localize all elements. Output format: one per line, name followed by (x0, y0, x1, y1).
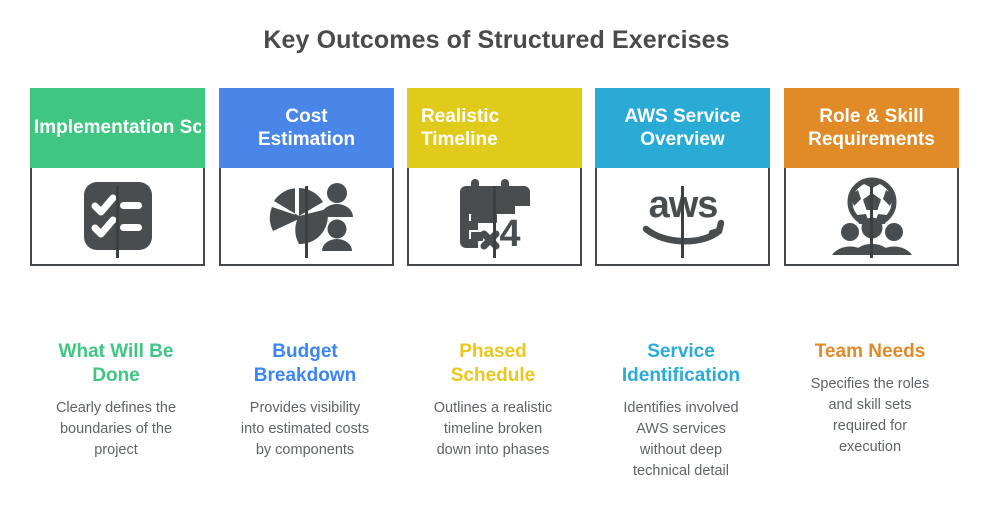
card-header-label: Implementation Scope (34, 116, 201, 139)
card-header-label: Cost Estimation (223, 105, 390, 151)
label-description: Outlines a realistic timeline broken dow… (393, 398, 593, 461)
card-header-aws-service-overview: AWS Service Overview (595, 88, 770, 168)
connector-line-cost-estimation (305, 186, 308, 258)
label-description: Identifies involved AWS services without… (581, 398, 781, 483)
connector-line-implementation-scope (116, 186, 119, 258)
svg-text:4: 4 (499, 213, 520, 254)
card-header-label: Role & Skill Requirements (788, 105, 955, 151)
label-description: Provides visibility into estimated costs… (205, 398, 405, 461)
card-header-realistic-timeline: Realistic Timeline (407, 88, 582, 168)
label-block-phased-schedule: Phased Schedule Outlines a realistic tim… (393, 340, 593, 461)
label-block-service-identification: Service Identification Identifies involv… (581, 340, 781, 482)
card-header-cost-estimation: Cost Estimation (219, 88, 394, 168)
label-block-budget-breakdown: Budget Breakdown Provides visibility int… (205, 340, 405, 461)
page-title: Key Outcomes of Structured Exercises (0, 26, 993, 55)
label-title: Service Identification (581, 340, 781, 388)
label-description: Clearly defines the boundaries of the pr… (16, 398, 216, 461)
card-header-implementation-scope: Implementation Scope (30, 88, 205, 168)
label-title: Budget Breakdown (205, 340, 405, 388)
label-description: Specifies the roles and skill sets requi… (770, 374, 970, 459)
label-title: What Will Be Done (16, 340, 216, 388)
connector-line-role-skill-requirements (870, 186, 873, 258)
label-block-what-will-be-done: What Will Be Done Clearly defines the bo… (16, 340, 216, 461)
connector-line-aws-service-overview (681, 186, 684, 258)
card-header-label: AWS Service Overview (599, 105, 766, 151)
label-title: Phased Schedule (393, 340, 593, 388)
card-header-role-skill-requirements: Role & Skill Requirements (784, 88, 959, 168)
label-block-team-needs: Team Needs Specifies the roles and skill… (770, 340, 970, 458)
label-title: Team Needs (770, 340, 970, 364)
card-header-label: Realistic Timeline (421, 105, 578, 151)
connector-line-realistic-timeline (493, 186, 496, 258)
